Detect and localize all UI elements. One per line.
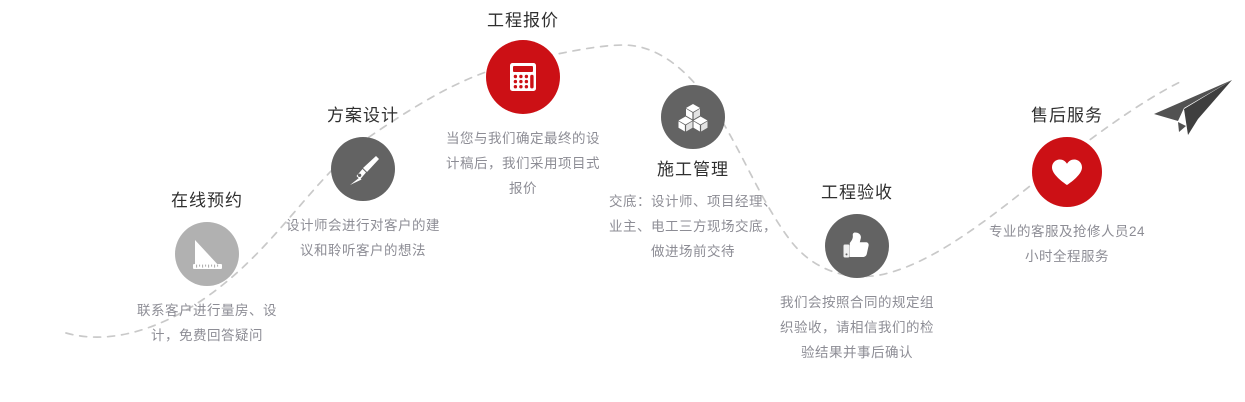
- flow-step-5-title: 工程验收: [762, 182, 952, 204]
- fountain-pen-nib-icon[interactable]: [331, 137, 395, 201]
- flow-step-5-desc: 我们会按照合同的规定组织验收，请相信我们的检验结果并事后确认: [777, 290, 937, 365]
- flow-step-3[interactable]: 工程报价: [428, 10, 618, 201]
- flow-step-6-desc: 专业的客服及抢修人员24小时全程服务: [987, 219, 1147, 269]
- flow-step-6[interactable]: 售后服务 专业的客服及抢修人员24小时全程服务: [972, 105, 1162, 269]
- stacked-cubes-icon[interactable]: [661, 85, 725, 149]
- flow-step-1-desc: 联系客户进行量房、设计，免费回答疑问: [127, 298, 287, 348]
- flow-step-6-icon-wrap[interactable]: [972, 137, 1162, 207]
- set-square-ruler-icon[interactable]: [175, 222, 239, 286]
- flow-step-3-desc: 当您与我们确定最终的设计稿后，我们采用项目式报价: [443, 126, 603, 201]
- flow-step-4-title: 施工管理: [598, 159, 788, 181]
- flow-step-4-icon-wrap[interactable]: [598, 85, 788, 149]
- flow-step-5[interactable]: 工程验收 我们会按照合同的规定组织验收，请相信我们的检验结果并事后确认: [762, 182, 952, 365]
- flow-step-4-desc: 交底：设计师、项目经理、业主、电工三方现场交底，做进场前交待: [607, 189, 779, 264]
- flow-step-5-icon-wrap[interactable]: [762, 214, 952, 278]
- flow-step-3-title: 工程报价: [428, 10, 618, 32]
- heart-icon[interactable]: [1032, 137, 1102, 207]
- flow-step-2-desc: 设计师会进行对客户的建议和聆听客户的想法: [283, 213, 443, 263]
- flow-step-3-icon-wrap[interactable]: [428, 40, 618, 114]
- calculator-icon[interactable]: [486, 40, 560, 114]
- flow-step-4[interactable]: 施工管理 交底：设计师、项目经理、业主、电工三方现场交底，做进场前交待: [598, 85, 788, 264]
- thumbs-up-icon[interactable]: [825, 214, 889, 278]
- flow-step-6-title: 售后服务: [972, 105, 1162, 127]
- service-flow-infographic: 在线预约: [0, 0, 1245, 402]
